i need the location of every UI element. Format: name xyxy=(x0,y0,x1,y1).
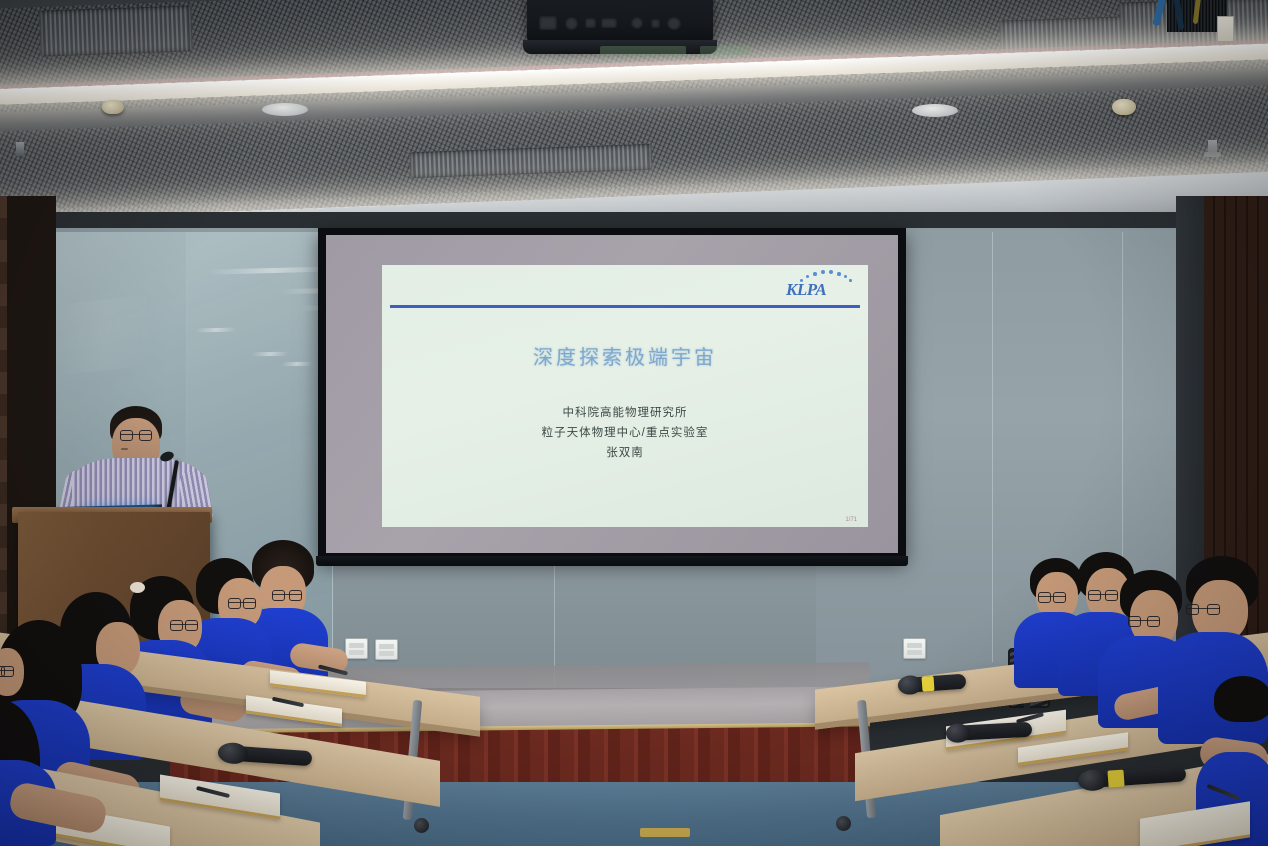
projector-port xyxy=(631,17,643,29)
student-glasses xyxy=(1088,594,1118,595)
student-glasses xyxy=(170,624,198,625)
klpa-logo: KLPA xyxy=(784,270,856,302)
projector-sticker xyxy=(700,46,750,55)
speaker-name: 张双南 xyxy=(382,443,868,463)
hair-tie xyxy=(130,582,145,593)
logo-wordmark: KLPA xyxy=(786,280,826,300)
slide-title: 深度探索极端宇宙 xyxy=(382,341,868,370)
screen-bottom-bar xyxy=(316,556,908,566)
projector-sticker xyxy=(600,46,686,56)
smoke-detector-icon xyxy=(102,100,124,114)
microphone-yellow-band xyxy=(1107,770,1124,788)
presenter-glasses xyxy=(120,434,152,435)
projector-port-panel xyxy=(539,16,699,36)
slide-number: 1/71 xyxy=(845,517,857,523)
projected-light-area: KLPA 深度探索极端宇宙 中科院高能物理研究所 粒子天体物理中心/重点实验室 … xyxy=(326,235,898,553)
student-glasses xyxy=(0,670,14,671)
glass-reflection xyxy=(196,328,236,333)
wall-outlet[interactable] xyxy=(903,638,926,659)
wall-outlet[interactable] xyxy=(345,638,368,659)
wall-outlet[interactable] xyxy=(375,639,398,660)
affiliation-line-1: 中科院高能物理研究所 xyxy=(382,403,868,423)
projector-port xyxy=(585,18,596,28)
student-glasses xyxy=(228,602,256,603)
lecture-hall-photo: KLPA 深度探索极端宇宙 中科院高能物理研究所 粒子天体物理中心/重点实验室 … xyxy=(0,0,1268,846)
affiliation-line-2: 粒子天体物理中心/重点实验室 xyxy=(382,423,868,443)
presentation-slide: KLPA 深度探索极端宇宙 中科院高能物理研究所 粒子天体物理中心/重点实验室 … xyxy=(382,265,868,527)
sprinkler-head-icon xyxy=(1208,140,1217,156)
smoke-detector-icon xyxy=(1112,99,1136,115)
floor-marker xyxy=(640,828,690,837)
projection-screen: KLPA 深度探索极端宇宙 中科院高能物理研究所 粒子天体物理中心/重点实验室 … xyxy=(318,228,906,560)
slide-divider-rule xyxy=(390,305,860,308)
glass-reflection xyxy=(282,362,312,367)
student-hair xyxy=(1214,676,1268,722)
student-glasses xyxy=(272,594,302,595)
projector-port xyxy=(651,19,660,28)
glass-reflection xyxy=(57,295,154,374)
sprinkler-head-icon xyxy=(16,142,24,156)
ceiling-speaker-icon xyxy=(912,104,958,117)
student-glasses xyxy=(1128,620,1160,621)
projector-port xyxy=(565,17,578,30)
projector-label-tag xyxy=(1217,16,1234,42)
table-caster xyxy=(836,816,851,831)
microphone-yellow-band xyxy=(922,676,935,692)
projector-port xyxy=(539,16,557,30)
wall-seam xyxy=(992,232,993,662)
projector-port xyxy=(667,17,681,30)
slide-affiliation-block: 中科院高能物理研究所 粒子天体物理中心/重点实验室 张双南 xyxy=(382,403,868,463)
glass-reflection xyxy=(252,352,288,357)
student-glasses xyxy=(1186,608,1220,609)
student-glasses xyxy=(1038,596,1066,597)
table-caster xyxy=(414,818,429,833)
projector-port xyxy=(601,18,617,28)
ceiling-speaker-icon xyxy=(262,103,308,116)
hvac-vent xyxy=(39,5,193,56)
